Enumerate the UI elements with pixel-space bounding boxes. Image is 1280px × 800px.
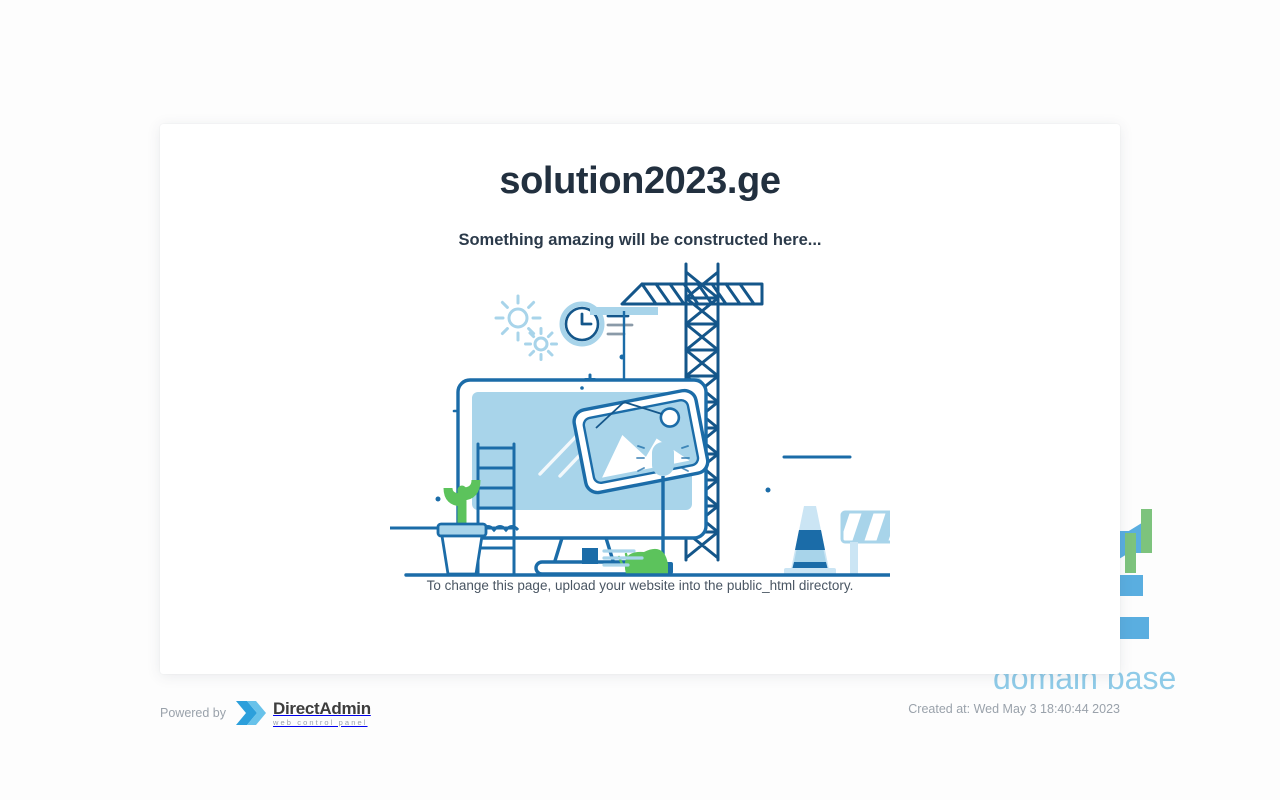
page-subtitle: Something amazing will be constructed he…	[160, 231, 1120, 250]
directadmin-name: DirectAdmin	[273, 700, 371, 717]
page-footer: Powered by DirectAdmin web control panel…	[160, 690, 1120, 730]
content-card: solution2023.ge Something amazing will b…	[160, 124, 1120, 674]
traffic-cone	[784, 506, 836, 575]
directadmin-wordmark: DirectAdmin web control panel	[273, 700, 371, 727]
powered-by-block: Powered by DirectAdmin web control panel	[160, 700, 371, 727]
gears-icon	[496, 296, 557, 360]
road-barrier	[840, 512, 890, 574]
bush-plant	[619, 548, 668, 573]
illustration-container: .sd { stroke:#1b6ca8; fill:none; stroke-…	[160, 262, 1120, 562]
upload-hint: To change this page, upload your website…	[160, 578, 1120, 593]
created-at-text: Created at: Wed May 3 18:40:44 2023	[908, 702, 1120, 716]
page-title: solution2023.ge	[160, 159, 1120, 205]
directadmin-logo-link[interactable]: DirectAdmin web control panel	[234, 700, 371, 727]
under-construction-illustration: .sd { stroke:#1b6ca8; fill:none; stroke-…	[390, 262, 890, 587]
powered-by-label: Powered by	[160, 706, 226, 720]
page-root: domain base solution2023.ge Something am…	[0, 0, 1280, 800]
directadmin-tagline: web control panel	[273, 719, 371, 727]
directadmin-chevron-icon	[234, 700, 268, 726]
